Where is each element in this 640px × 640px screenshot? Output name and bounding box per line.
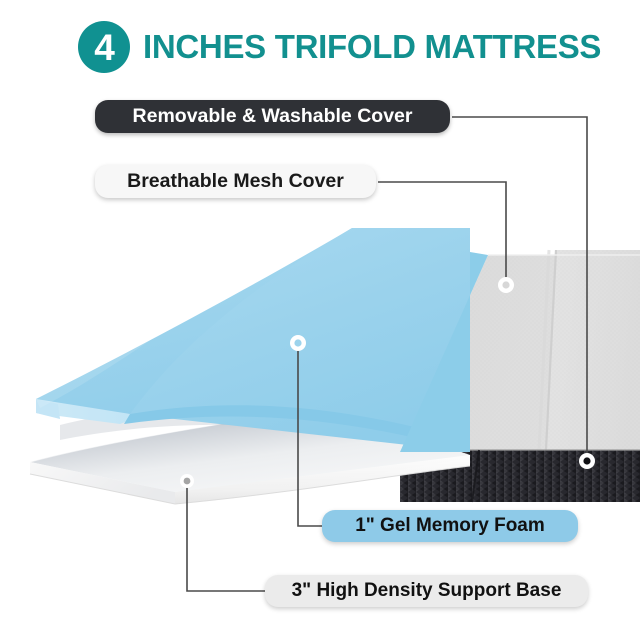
page-title: 4 INCHES TRIFOLD MATTRESS: [78, 21, 601, 73]
gel-memory-foam-group: [36, 228, 470, 452]
infographic-canvas: 4 INCHES TRIFOLD MATTRESS Removable & Wa…: [0, 0, 640, 640]
callout-label: 3" High Density Support Base: [292, 580, 562, 602]
callout-label: Removable & Washable Cover: [133, 105, 413, 128]
callout-breathable-mesh-cover: Breathable Mesh Cover: [95, 165, 376, 198]
callout-label: Breathable Mesh Cover: [127, 170, 344, 193]
callout-removable-washable-cover: Removable & Washable Cover: [95, 100, 450, 133]
callout-label: 1" Gel Memory Foam: [355, 515, 545, 537]
title-text: INCHES TRIFOLD MATTRESS: [143, 28, 601, 66]
cover-panel-right-group: [546, 250, 640, 450]
badge-number: 4: [94, 29, 114, 66]
inches-badge: 4: [78, 21, 130, 73]
callout-high-density-support-base: 3" High Density Support Base: [265, 575, 588, 607]
mattress-illustration: [0, 0, 640, 640]
leader-support-base: [187, 487, 265, 591]
callout-gel-memory-foam: 1" Gel Memory Foam: [322, 510, 578, 542]
